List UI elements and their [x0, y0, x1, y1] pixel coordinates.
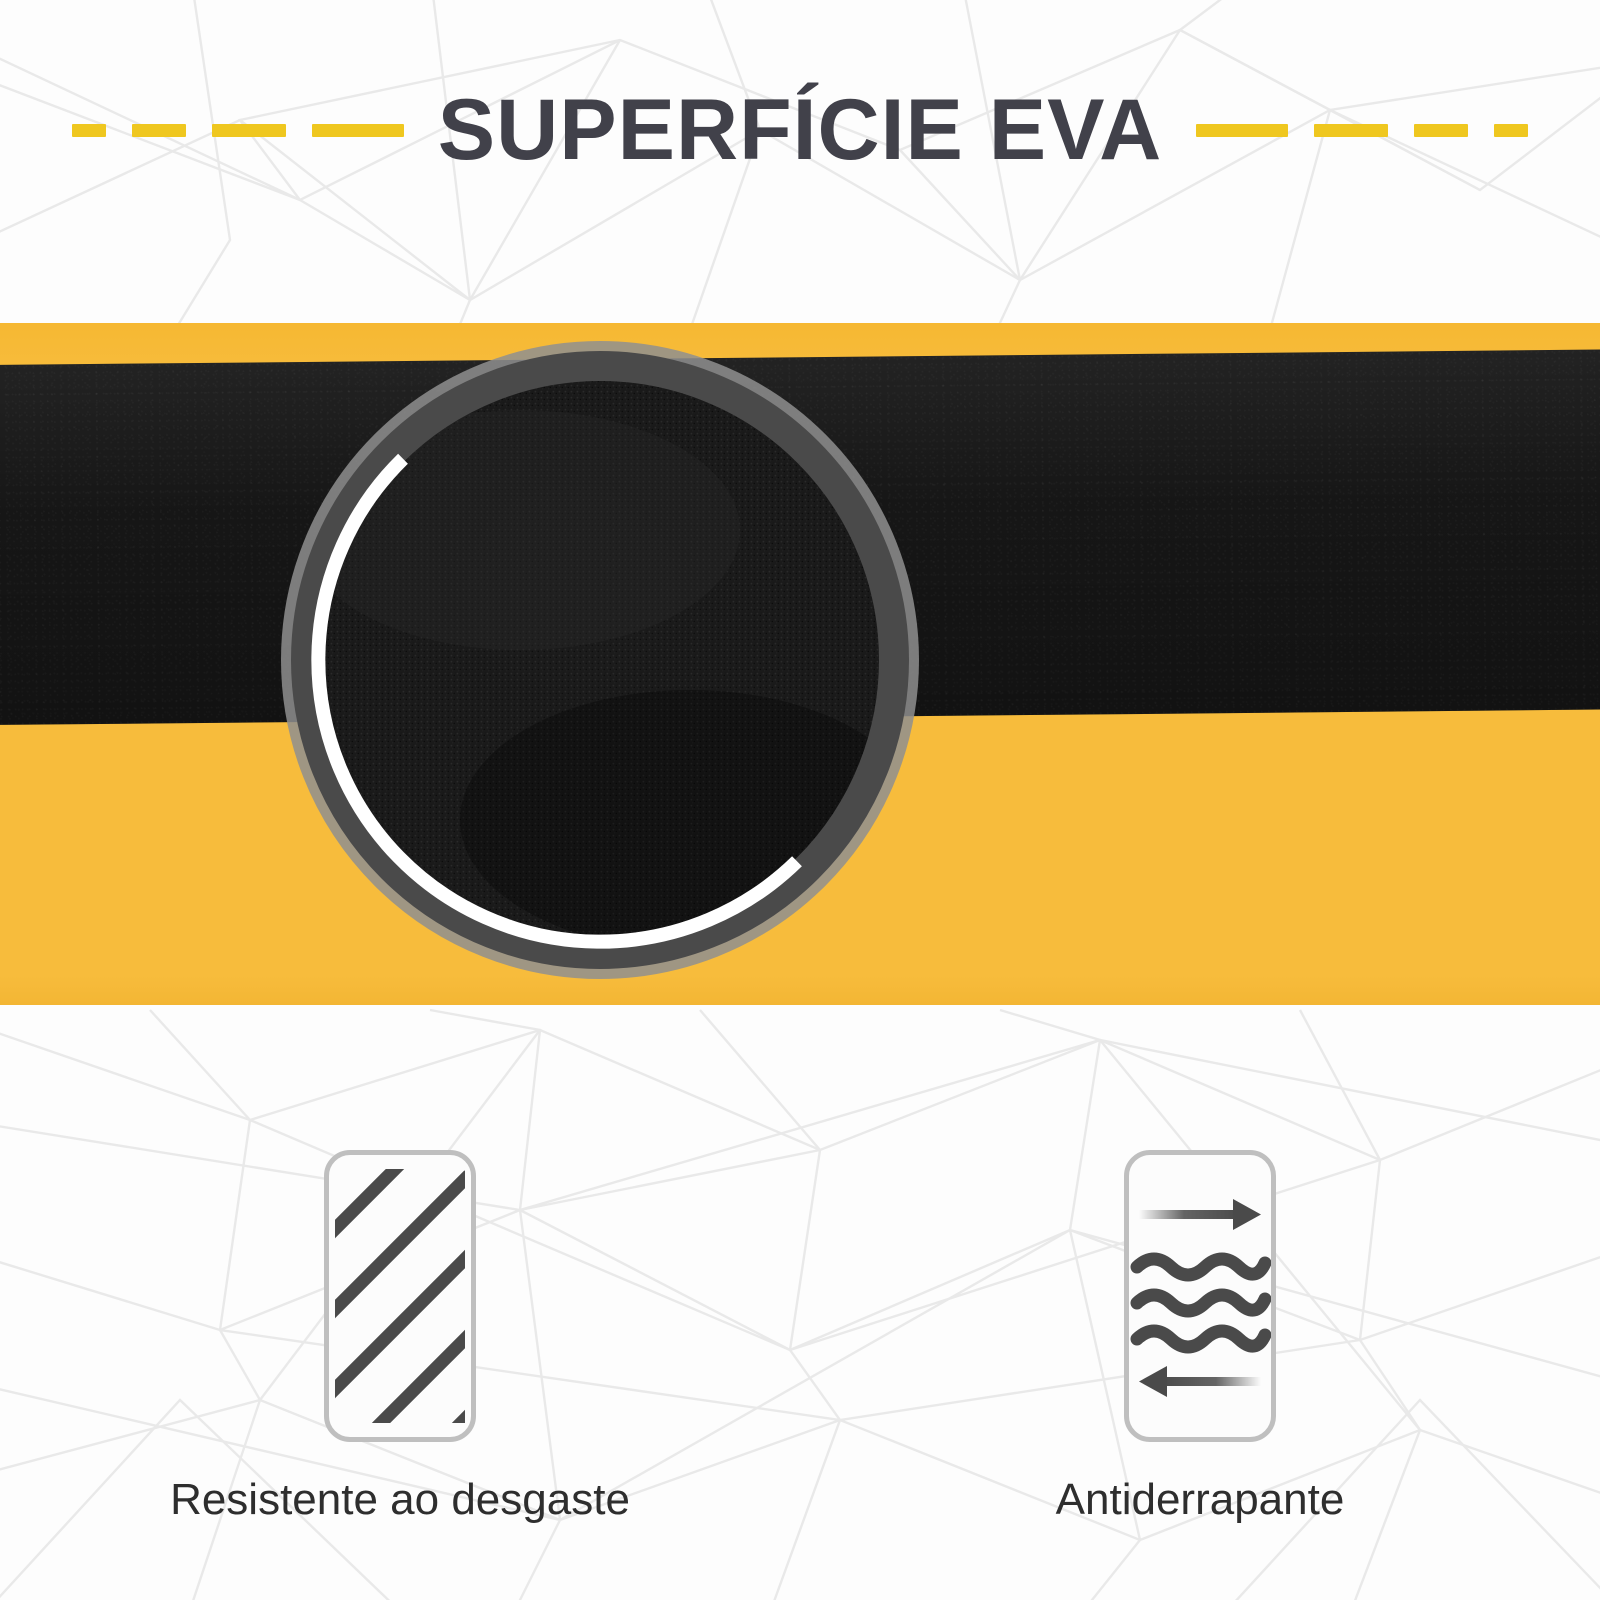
dash-medium	[1414, 124, 1468, 137]
page-title: SUPERFÍCIE EVA	[438, 87, 1162, 173]
arrow-left-icon	[1139, 1366, 1261, 1397]
dash-large	[1314, 124, 1388, 137]
dash-large	[212, 124, 286, 137]
feature-label: Resistente ao desgaste	[170, 1478, 630, 1522]
feature-label: Antiderrapante	[1056, 1478, 1345, 1522]
arrow-right-icon	[1139, 1199, 1261, 1230]
mat-yellow-bottom-shade	[0, 975, 1600, 1005]
eva-sheen	[0, 349, 1600, 725]
dash-small	[1494, 124, 1528, 137]
feature-icon-box	[324, 1150, 476, 1442]
feature-row: Resistente ao desgaste	[0, 1150, 1600, 1570]
mat-black-surface	[0, 349, 1600, 725]
dash-medium	[132, 124, 186, 137]
feature-wear-resistant: Resistente ao desgaste	[0, 1150, 800, 1570]
decorative-dashes-left	[72, 124, 404, 137]
header: SUPERFÍCIE EVA	[0, 60, 1600, 200]
dash-xlarge	[1196, 124, 1288, 137]
wave-lines	[1137, 1259, 1265, 1347]
product-photo	[0, 323, 1600, 1005]
anti-slip-waves-icon	[1129, 1155, 1271, 1437]
feature-anti-slip: Antiderrapante	[800, 1150, 1600, 1570]
diagonal-stripes-icon	[329, 1155, 471, 1437]
dash-xlarge	[312, 124, 404, 137]
decorative-dashes-right	[1196, 124, 1528, 137]
dash-small	[72, 124, 106, 137]
feature-icon-box	[1124, 1150, 1276, 1442]
infographic-canvas: SUPERFÍCIE EVA	[0, 0, 1600, 1600]
